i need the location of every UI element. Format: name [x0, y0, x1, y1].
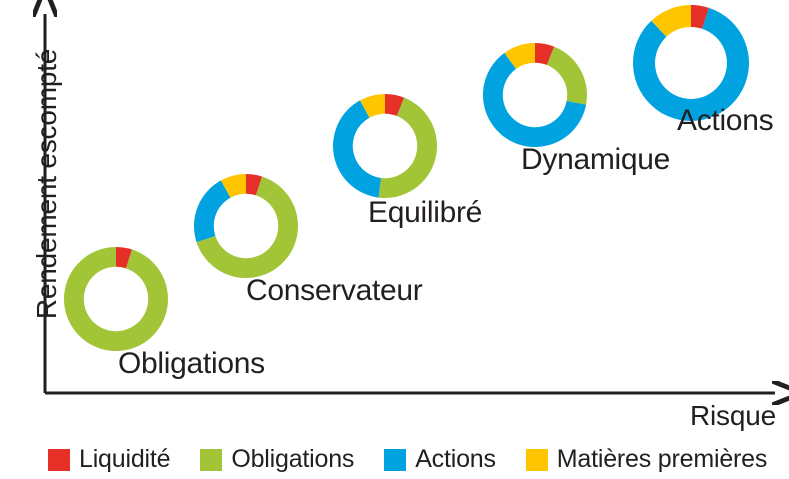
legend-swatch-icon	[384, 449, 406, 471]
slice-obligations	[64, 247, 168, 351]
legend-label: Obligations	[231, 445, 354, 474]
x-axis-title: Risque	[690, 400, 776, 432]
donut-label-actions: Actions	[677, 104, 773, 138]
legend-label: Actions	[415, 445, 496, 474]
legend-item-actions[interactable]: Actions	[384, 445, 496, 474]
donut-conservateur	[192, 172, 300, 280]
legend-swatch-icon	[526, 449, 548, 471]
donut-label-dynamique: Dynamique	[521, 143, 670, 177]
legend-item-liquidit-[interactable]: Liquidité	[48, 445, 170, 474]
legend: LiquiditéObligationsActionsMatières prem…	[48, 445, 789, 474]
legend-item-obligations[interactable]: Obligations	[200, 445, 354, 474]
donut-label-conservateur: Conservateur	[246, 274, 423, 308]
legend-label: Liquidité	[79, 445, 170, 474]
legend-swatch-icon	[48, 449, 70, 471]
slice-actions	[194, 180, 230, 242]
donut-obligations	[62, 245, 170, 353]
chart-canvas: Rendement escompté Risque ObligationsCon…	[0, 0, 789, 479]
legend-item-mati-res-premi-res[interactable]: Matières premières	[526, 445, 767, 474]
legend-swatch-icon	[200, 449, 222, 471]
donut-dynamique	[481, 41, 589, 149]
donut-equilibr-	[331, 92, 439, 200]
slice-obligations	[547, 47, 587, 105]
legend-label: Matières premières	[557, 445, 767, 474]
donut-label-equilibr-: Equilibré	[368, 196, 482, 230]
donut-label-obligations: Obligations	[118, 347, 265, 381]
y-axis-title: Rendement escompté	[31, 19, 63, 349]
